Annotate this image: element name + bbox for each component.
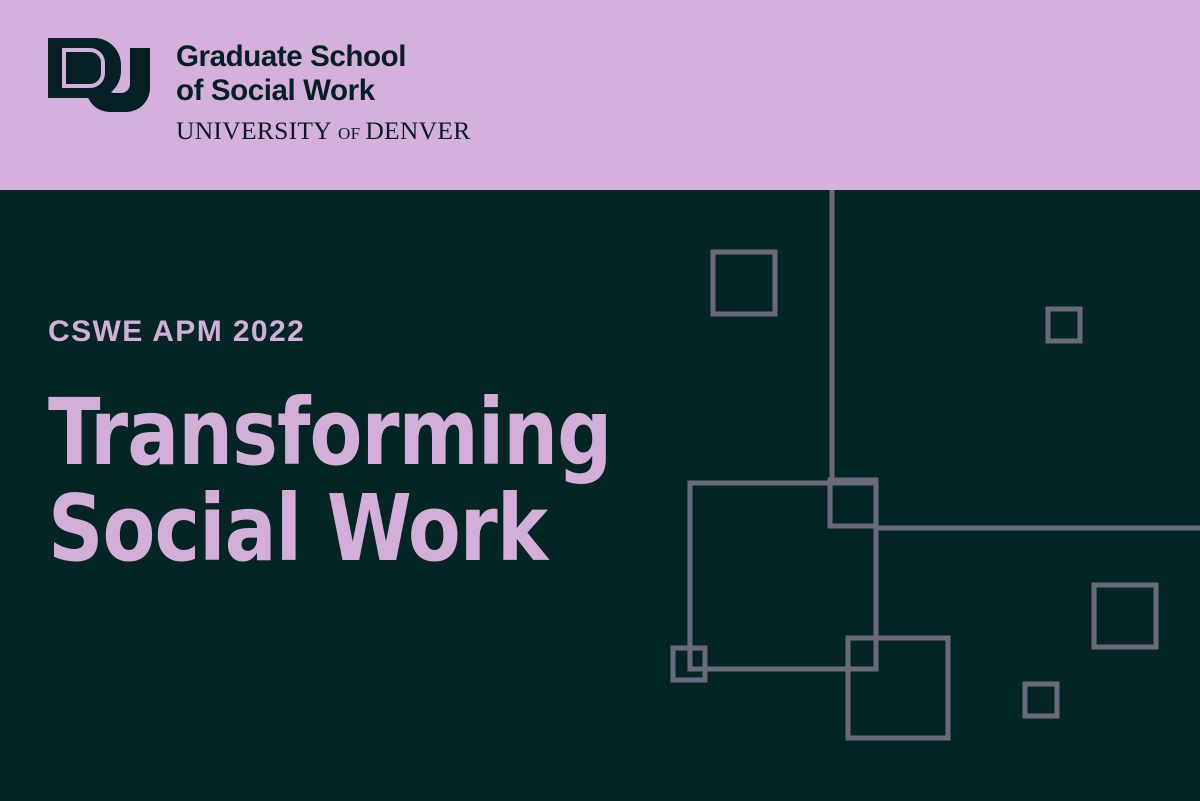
du-monogram-logo xyxy=(46,34,150,112)
page-title: Transforming Social Work xyxy=(48,385,662,577)
square-right-mid xyxy=(1094,585,1156,647)
headline-line-2: Social Work xyxy=(48,481,662,577)
university-word: UNIVERSITY xyxy=(176,117,332,144)
eyebrow-label: CSWE APM 2022 xyxy=(48,315,708,349)
square-top-right xyxy=(1048,309,1080,341)
square-tiny-right xyxy=(1025,684,1057,716)
square-tiny-left xyxy=(673,648,705,680)
square-notch-upper xyxy=(830,480,876,526)
presentation-slide: Graduate School of Social Work UNIVERSIT… xyxy=(0,0,1200,801)
university-name: UNIVERSITY OF DENVER xyxy=(176,117,471,147)
decorative-lines xyxy=(832,190,1200,528)
square-top-left xyxy=(713,252,775,314)
denver-word: DENVER xyxy=(365,117,470,144)
university-connector: OF xyxy=(332,120,365,147)
hero-section: CSWE APM 2022 Transforming Social Work xyxy=(0,190,1200,801)
decorative-squares xyxy=(673,252,1156,738)
headline-line-1: Transforming xyxy=(48,385,662,481)
school-name-line-1: Graduate School xyxy=(176,40,471,74)
logo-lockup: Graduate School of Social Work UNIVERSIT… xyxy=(46,34,471,147)
square-large-center xyxy=(690,483,876,669)
hero-copy: CSWE APM 2022 Transforming Social Work xyxy=(48,315,708,577)
header-band: Graduate School of Social Work UNIVERSIT… xyxy=(0,0,1200,190)
school-name-line-2: of Social Work xyxy=(176,74,471,108)
square-lower-center xyxy=(848,638,948,738)
wordmark: Graduate School of Social Work UNIVERSIT… xyxy=(176,34,471,147)
